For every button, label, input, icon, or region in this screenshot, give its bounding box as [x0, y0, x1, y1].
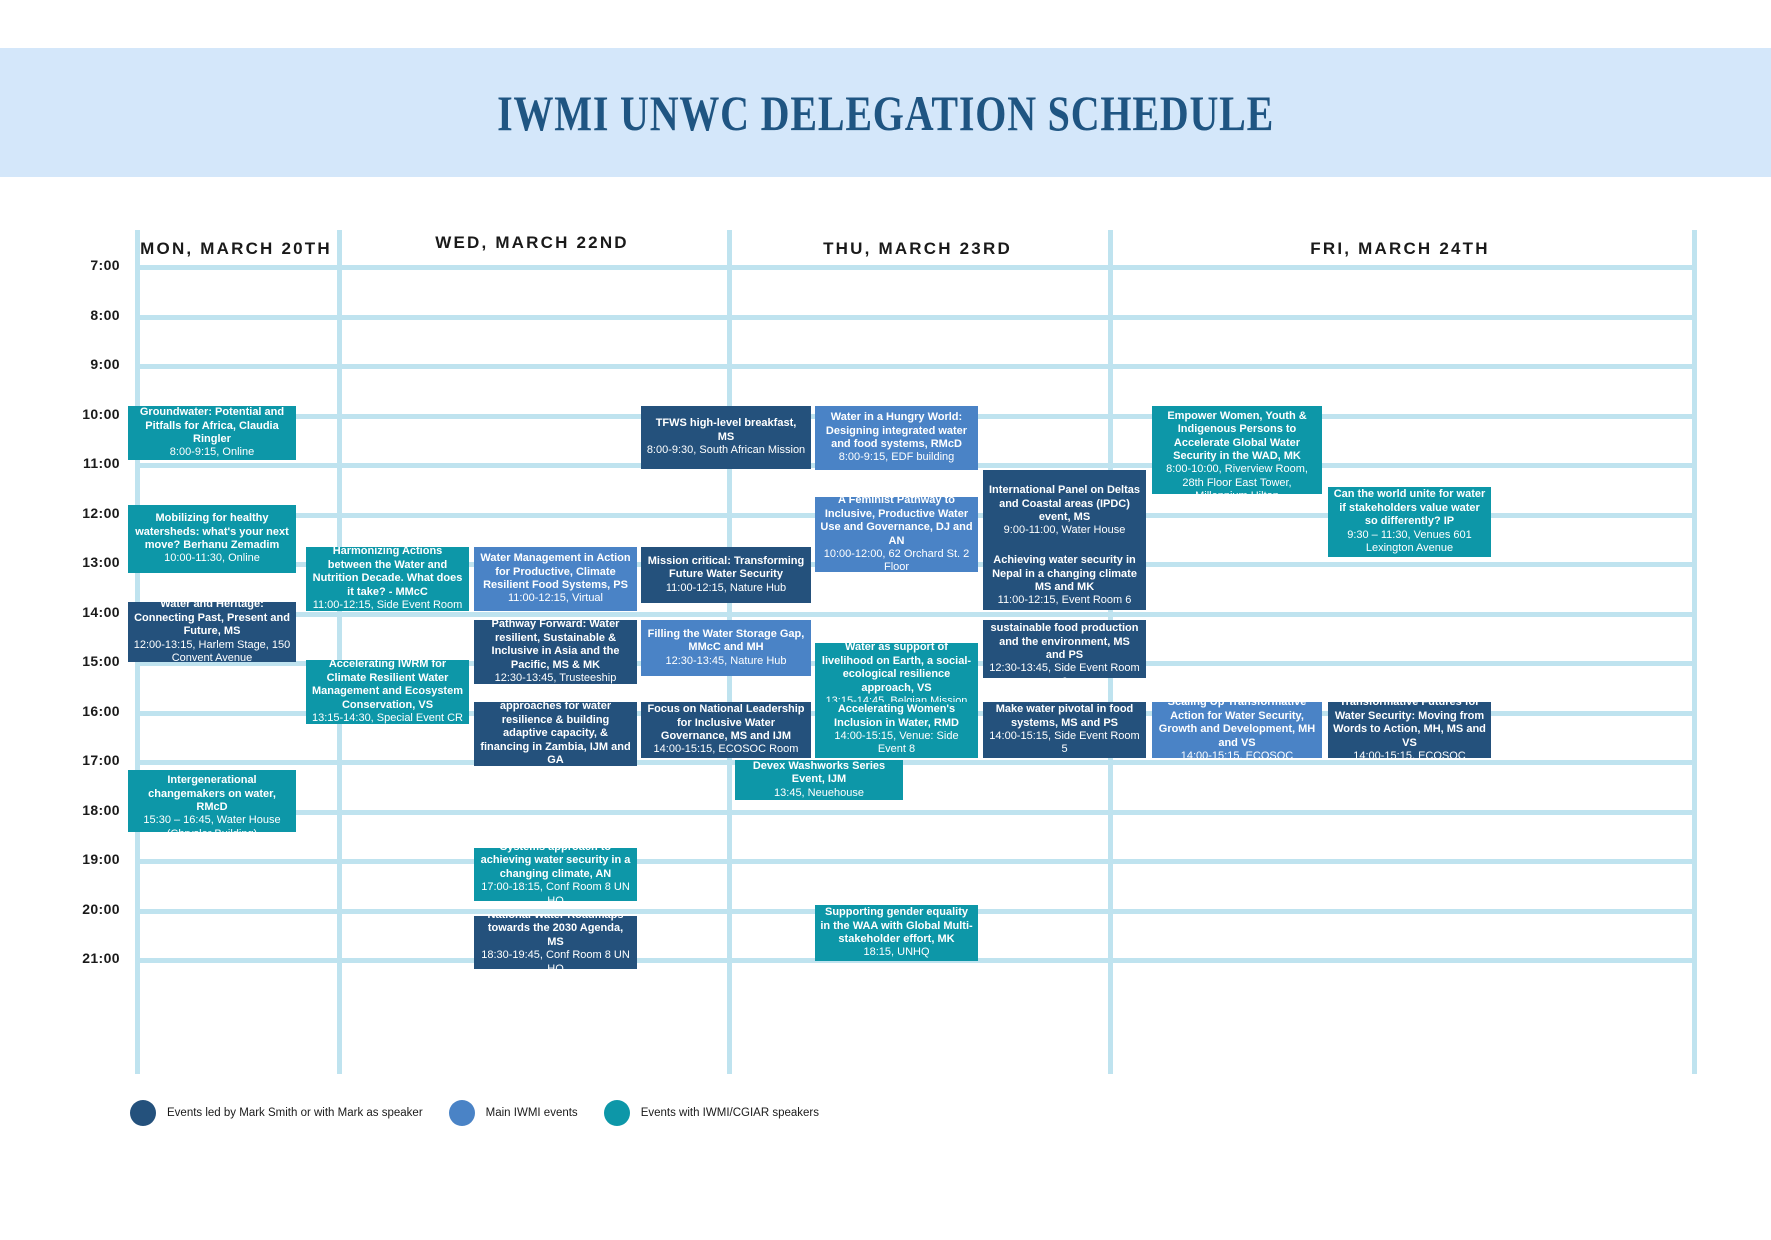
time-label: 7:00: [60, 257, 120, 273]
hour-gridline: [135, 364, 1697, 369]
day-header-4: FRI, MARCH 24TH: [1108, 239, 1692, 259]
event-time-location: 10:00-11:30, Online: [133, 552, 291, 565]
event-time-location: 8:00-9:15, EDF building: [820, 451, 973, 464]
time-label: 13:00: [60, 554, 120, 570]
event-block[interactable]: Make water pivotal in food systems, MS a…: [983, 702, 1146, 758]
time-label: 8:00: [60, 307, 120, 323]
event-time-location: 9:00-11:00, Water House: [988, 524, 1141, 537]
event-title: Water and Nutrition, Harmonizing Actions…: [311, 547, 464, 599]
event-time-location: 11:00-12:15, Side Event Room A: [311, 599, 464, 611]
day-header-1: MON, MARCH 20TH: [135, 239, 337, 259]
page-header: IWMI UNWC DELEGATION SCHEDULE: [0, 48, 1771, 177]
event-block[interactable]: International Panel on Deltas and Coasta…: [983, 470, 1146, 552]
legend-navy: Events led by Mark Smith or with Mark as…: [130, 1100, 423, 1126]
legend-label: Main IWMI events: [486, 1107, 578, 1119]
event-time-location: 14:00-15:15, Side Event Room 5: [988, 730, 1141, 757]
event-time-location: 18:30-19:45, Conf Room 8 UN HQ: [479, 949, 632, 969]
event-time-location: 14:00-15:15, ECOSOC: [1333, 750, 1486, 758]
event-title: Pathway Forward: Water resilient, Sustai…: [479, 620, 632, 672]
event-time-location: 8:00-10:00, Riverview Room, 28th Floor E…: [1157, 463, 1317, 494]
event-title: Too much and Too Little - Accelerating I…: [311, 660, 464, 712]
event-title: International Panel on Deltas and Coasta…: [988, 484, 1141, 524]
event-time-location: 12:30-13:45, Nature Hub: [646, 655, 806, 668]
event-title: Systems approach to achieving water secu…: [479, 848, 632, 881]
event-title: Achieving water security in Nepal in a c…: [988, 554, 1141, 594]
legend-swatch-icon: [130, 1100, 156, 1126]
event-time-location: 13:45, Neuehouse: [740, 787, 898, 800]
event-time-location: 11:00-12:15, Virtual: [479, 592, 632, 605]
hour-gridline: [135, 612, 1697, 617]
event-title: Can the world unite for water if stakeho…: [1333, 488, 1486, 528]
time-label: 21:00: [60, 950, 120, 966]
event-block[interactable]: Water as support of livelihood on Earth,…: [815, 643, 978, 707]
event-time-location: 8:00-9:15, Online: [133, 446, 291, 459]
page-title: IWMI UNWC DELEGATION SCHEDULE: [497, 84, 1274, 142]
event-time-location: 12:00-13:15, Harlem Stage, 150 Convent A…: [133, 639, 291, 662]
event-block[interactable]: Systems approach to achieving water secu…: [474, 848, 637, 901]
legend-swatch-icon: [449, 1100, 475, 1126]
time-label: 16:00: [60, 703, 120, 719]
event-block[interactable]: Devex Washworks Series Event, IJM13:45, …: [735, 760, 903, 800]
time-label: 12:00: [60, 505, 120, 521]
event-block[interactable]: Too much and Too Little - Accelerating I…: [306, 660, 469, 724]
event-title: Water as support of livelihood on Earth,…: [820, 643, 973, 695]
event-title: Water and Heritage: Connecting Past, Pre…: [133, 602, 291, 639]
event-time-location: 11:00-12:15, Event Room 6: [988, 594, 1141, 607]
event-block[interactable]: TFWS high-level breakfast, MS8:00-9:30, …: [641, 406, 811, 469]
day-separator: [1692, 230, 1697, 1074]
day-header-3: THU, MARCH 23RD: [727, 239, 1108, 259]
event-time-location: 10:00-12:00, 62 Orchard St. 2 Floor: [820, 548, 973, 572]
event-block[interactable]: Accelerating Women's Inclusion in Water,…: [815, 702, 978, 758]
event-time-location: 14:00-15:15, Venue: Side Event 8: [820, 730, 973, 757]
legend-label: Events led by Mark Smith or with Mark as…: [167, 1107, 423, 1119]
event-title: Focus on National Leadership for Inclusi…: [646, 703, 806, 743]
legend-swatch-icon: [604, 1100, 630, 1126]
event-title: Accelerating Women's Inclusion in Water,…: [820, 703, 973, 730]
hour-gridline: [135, 810, 1697, 815]
event-title: Devex Washworks Series Event, IJM: [740, 760, 898, 787]
legend-label: Events with IWMI/CGIAR speakers: [641, 1107, 819, 1119]
event-title: Mission critical: Transforming Future Wa…: [646, 555, 806, 582]
day-header-2: WED, MARCH 22ND: [337, 233, 727, 253]
event-time-location: 12:30-13:45, Side Event Room 6: [988, 662, 1141, 678]
event-block[interactable]: Water in a Hungry World: Designing integ…: [815, 406, 978, 470]
time-label: 20:00: [60, 901, 120, 917]
event-block[interactable]: Mobilizing for healthy watersheds: what'…: [128, 505, 296, 573]
legend-teal: Events with IWMI/CGIAR speakers: [604, 1100, 819, 1126]
event-title: Water in a Hungry World: Designing integ…: [820, 411, 973, 451]
event-title: Scaling Up Transformative Action for Wat…: [1157, 702, 1317, 750]
schedule-grid: 7:008:009:0010:0011:0012:0013:0014:0015:…: [0, 177, 1771, 1240]
event-title: TFWS high-level breakfast, MS: [646, 417, 806, 444]
day-separator: [337, 230, 342, 1074]
event-time-location: 12:30-13:45, Trusteeship: [479, 672, 632, 684]
event-title: Secure water allocation for sustainable …: [988, 620, 1141, 662]
legend: Events led by Mark Smith or with Mark as…: [130, 1100, 845, 1126]
event-block[interactable]: Supporting gender equality in the WAA wi…: [815, 905, 978, 961]
event-title: Groundwater: Potential and Pitfalls for …: [133, 406, 291, 446]
legend-blue: Main IWMI events: [449, 1100, 578, 1126]
event-time-location: 14:00-15:15, ECOSOC Room: [646, 743, 806, 756]
event-title: Bottom-up initiative approaches for wate…: [479, 702, 632, 766]
event-time-location: 18:15, UNHQ: [820, 946, 973, 959]
event-block[interactable]: A Feminist Pathway to Inclusive, Product…: [815, 497, 978, 572]
hour-gridline: [135, 315, 1697, 320]
time-label: 15:00: [60, 653, 120, 669]
event-time-location: 15:30 – 16:45, Water House (Chrysler Bui…: [133, 814, 291, 832]
event-title: Supporting gender equality in the WAA wi…: [820, 906, 973, 946]
event-block[interactable]: Scaling Up Transformative Action for Wat…: [1152, 702, 1322, 758]
event-title: Make water pivotal in food systems, MS a…: [988, 703, 1141, 730]
hour-gridline: [135, 760, 1697, 765]
event-block[interactable]: Water and Nutrition, Harmonizing Actions…: [306, 547, 469, 611]
event-block[interactable]: Water and Heritage: Connecting Past, Pre…: [128, 602, 296, 662]
event-time-location: 17:00-18:15, Conf Room 8 UN HQ: [479, 881, 632, 901]
hour-gridline: [135, 859, 1697, 864]
time-label: 10:00: [60, 406, 120, 422]
event-block[interactable]: Mission critical: Transforming Future Wa…: [641, 547, 811, 603]
time-label: 19:00: [60, 851, 120, 867]
event-time-location: 13:15-14:30, Special Event CR 2: [311, 712, 464, 724]
time-label: 14:00: [60, 604, 120, 620]
event-block[interactable]: Groundwater: Potential and Pitfalls for …: [128, 406, 296, 460]
event-block[interactable]: National Water Roadmaps towards the 2030…: [474, 916, 637, 969]
event-title: Roundtable: Concrete Path to Empower Wom…: [1157, 406, 1317, 463]
event-title: The Future is now! Intergenerational cha…: [133, 770, 291, 814]
event-block[interactable]: Can the world unite for water if stakeho…: [1328, 487, 1491, 557]
time-label: 17:00: [60, 752, 120, 768]
event-block[interactable]: Filling the Water Storage Gap, MMcC and …: [641, 620, 811, 676]
event-block[interactable]: Water Management in Action for Productiv…: [474, 547, 637, 611]
time-label: 11:00: [60, 455, 120, 471]
event-block[interactable]: Transformative Futures for Water Securit…: [1328, 702, 1491, 758]
event-time-location: 8:00-9:30, South African Mission: [646, 444, 806, 457]
event-block[interactable]: Bottom-up initiative approaches for wate…: [474, 702, 637, 766]
event-title: Transformative Futures for Water Securit…: [1333, 702, 1486, 750]
hour-gridline: [135, 265, 1697, 270]
event-title: Filling the Water Storage Gap, MMcC and …: [646, 628, 806, 655]
event-title: A Feminist Pathway to Inclusive, Product…: [820, 497, 973, 548]
event-time-location: 9:30 – 11:30, Venues 601 Lexington Avenu…: [1333, 529, 1486, 556]
event-title: Mobilizing for healthy watersheds: what'…: [133, 512, 291, 552]
time-label: 18:00: [60, 802, 120, 818]
event-block[interactable]: Secure water allocation for sustainable …: [983, 620, 1146, 678]
time-label: 9:00: [60, 356, 120, 372]
event-block[interactable]: Focus on National Leadership for Inclusi…: [641, 702, 811, 758]
event-time-location: 14:00-15:15, ECOSOC: [1157, 750, 1317, 758]
event-time-location: 11:00-12:15, Nature Hub: [646, 582, 806, 595]
event-title: Water Management in Action for Productiv…: [479, 552, 632, 592]
event-block[interactable]: The Future is now! Intergenerational cha…: [128, 770, 296, 832]
event-title: National Water Roadmaps towards the 2030…: [479, 916, 632, 949]
event-block[interactable]: Achieving water security in Nepal in a c…: [983, 552, 1146, 610]
event-block[interactable]: Pathway Forward: Water resilient, Sustai…: [474, 620, 637, 684]
event-block[interactable]: Roundtable: Concrete Path to Empower Wom…: [1152, 406, 1322, 494]
